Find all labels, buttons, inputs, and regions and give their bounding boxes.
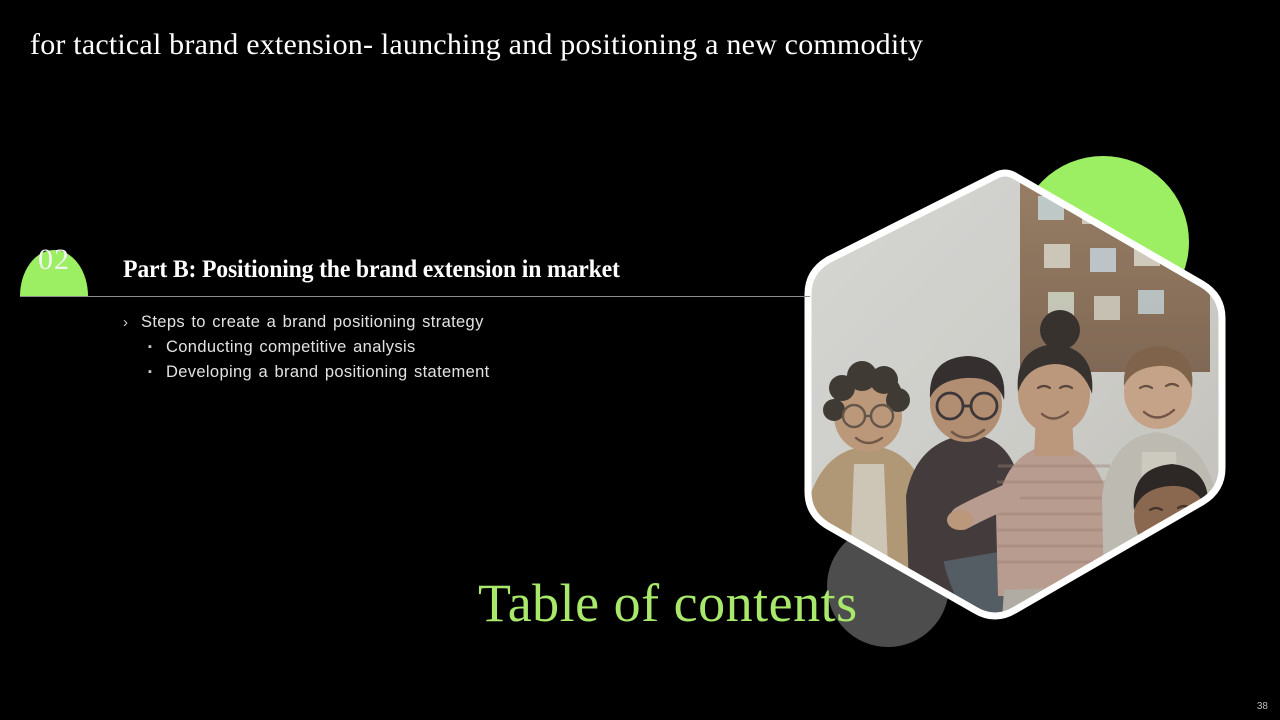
list-item: ▪ Developing a brand positioning stateme…: [123, 360, 723, 385]
list-item-label: Developing a brand positioning statement: [166, 360, 490, 385]
section-title: Part B: Positioning the brand extension …: [123, 256, 620, 284]
section-block: 02 Part B: Positioning the brand extensi…: [0, 240, 815, 300]
square-bullet-icon: ▪: [148, 360, 166, 385]
slide-header-title: for tactical brand extension- launching …: [30, 28, 1210, 62]
section-number-label: 02: [20, 240, 88, 280]
team-photo: [798, 166, 1232, 620]
table-of-contents-title: Table of contents: [478, 572, 858, 634]
list-item-label: Steps to create a brand positioning stra…: [141, 310, 484, 335]
list-item: › Steps to create a brand positioning st…: [123, 310, 723, 335]
chevron-bullet-icon: ›: [123, 310, 141, 335]
list-item-label: Conducting competitive analysis: [166, 335, 416, 360]
section-divider: [20, 296, 810, 297]
bullet-list: › Steps to create a brand positioning st…: [123, 310, 723, 385]
page-number: 38: [1257, 701, 1268, 712]
list-item: ▪ Conducting competitive analysis: [123, 335, 723, 360]
square-bullet-icon: ▪: [148, 335, 166, 360]
